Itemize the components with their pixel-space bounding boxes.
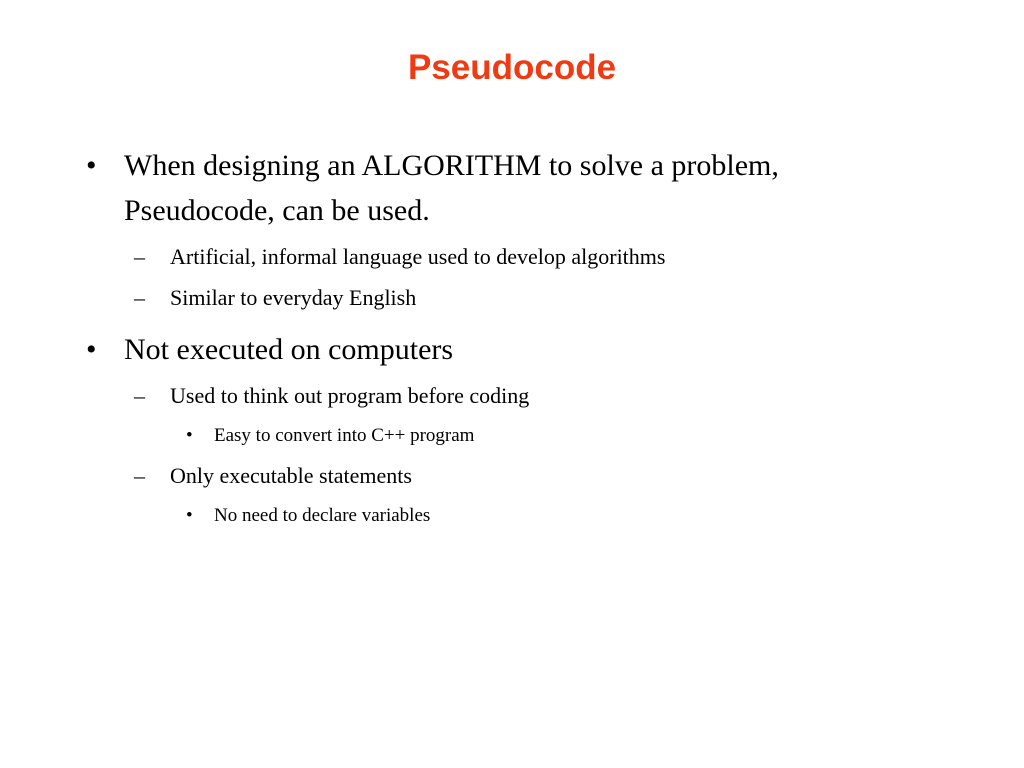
- bullet-list: • When designing an ALGORITHM to solve a…: [0, 143, 1024, 536]
- bullet-marker-icon: •: [186, 417, 214, 454]
- dash-marker-icon: –: [134, 376, 170, 415]
- list-item-label: Used to think out program before coding: [170, 376, 930, 415]
- bullet-marker-icon: •: [186, 497, 214, 534]
- list-item: – Artificial, informal language used to …: [0, 237, 1024, 276]
- list-item-label: Artificial, informal language used to de…: [170, 237, 930, 276]
- dash-marker-icon: –: [134, 456, 170, 495]
- page-title: Pseudocode: [0, 47, 1024, 89]
- list-item: – Similar to everyday English: [0, 278, 1024, 317]
- list-item-label: Only executable statements: [170, 456, 930, 495]
- list-item: • Easy to convert into C++ program: [0, 417, 1024, 454]
- list-item: – Used to think out program before codin…: [0, 376, 1024, 415]
- list-item-label: Easy to convert into C++ program: [214, 417, 974, 454]
- slide: Pseudocode • When designing an ALGORITHM…: [0, 0, 1024, 768]
- list-item: • When designing an ALGORITHM to solve a…: [0, 143, 1024, 233]
- dash-marker-icon: –: [134, 278, 170, 317]
- list-item-label: When designing an ALGORITHM to solve a p…: [124, 143, 854, 233]
- bullet-marker-icon: •: [86, 327, 124, 372]
- dash-marker-icon: –: [134, 237, 170, 276]
- list-item: – Only executable statements: [0, 456, 1024, 495]
- list-item-label: Similar to everyday English: [170, 278, 930, 317]
- bullet-marker-icon: •: [86, 143, 124, 188]
- list-item: • No need to declare variables: [0, 497, 1024, 534]
- list-item: • Not executed on computers: [0, 327, 1024, 372]
- list-item-label: No need to declare variables: [214, 497, 974, 534]
- list-item-label: Not executed on computers: [124, 327, 854, 372]
